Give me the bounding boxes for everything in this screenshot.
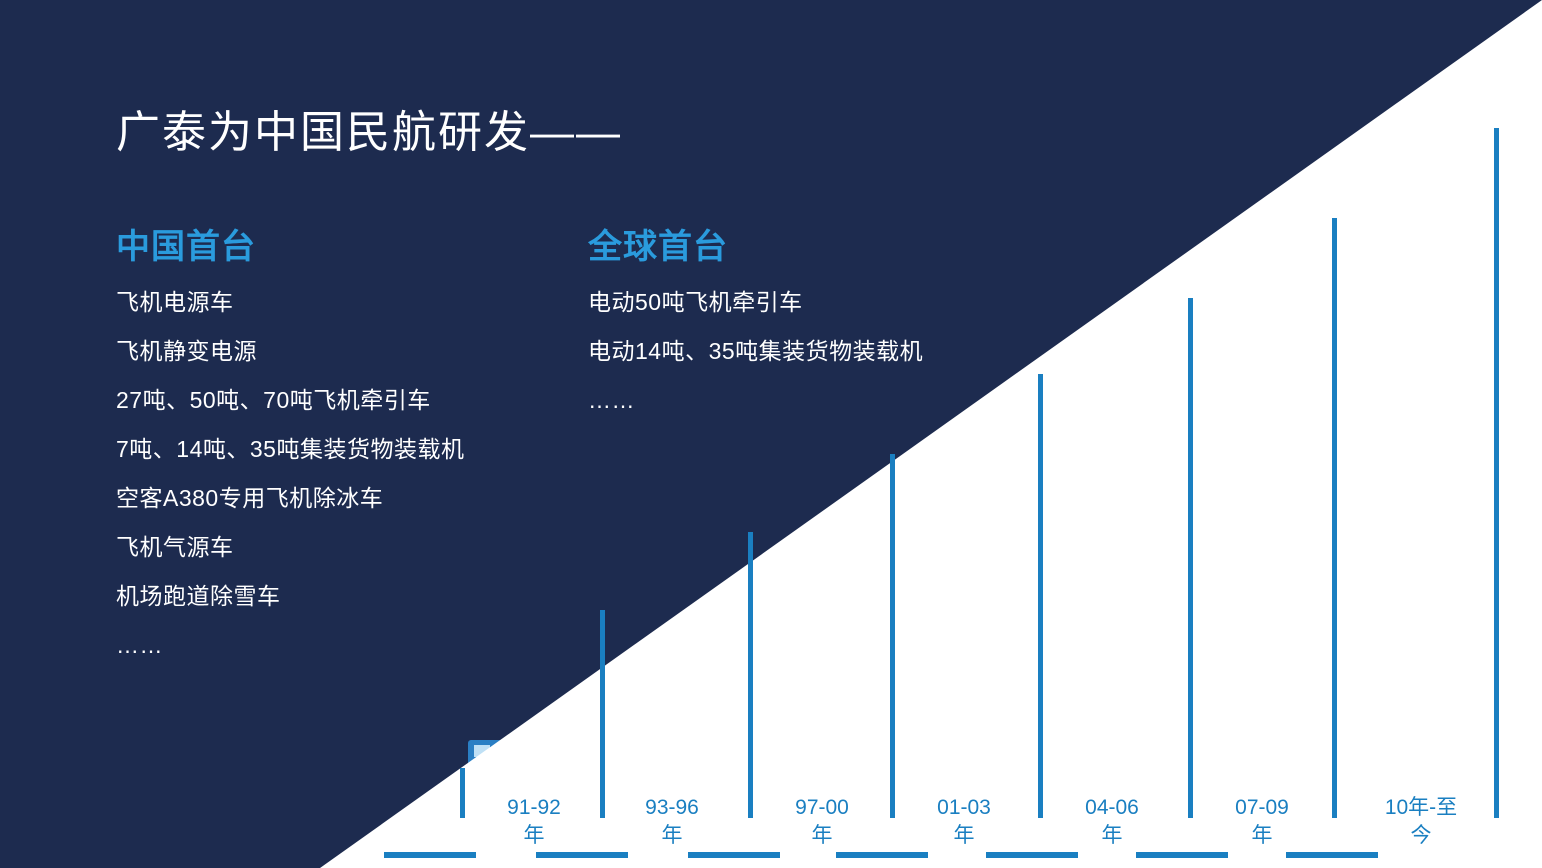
list-item: 飞机静变电源 [116, 327, 464, 376]
timeline-vline [1494, 128, 1499, 818]
page-title: 广泰为中国民航研发—— [116, 96, 622, 160]
timeline-vline [748, 532, 753, 818]
timeline-tick-label: 07-09 年 [1202, 794, 1322, 850]
tick-unit: 年 [1052, 822, 1172, 850]
timeline-hbar [1136, 852, 1228, 858]
timeline-hbar [688, 852, 780, 858]
timeline-tick-label: 93-96 年 [612, 794, 732, 850]
list-item: 空客A380专用飞机除冰车 [116, 474, 464, 523]
tick-range: 93-96 [612, 794, 732, 822]
column-heading-china-first: 中国首台 [116, 219, 256, 268]
tick-range: 07-09 [1202, 794, 1322, 822]
tick-unit: 今 [1346, 822, 1496, 850]
list-item: 飞机电源车 [116, 278, 464, 327]
tick-unit: 年 [904, 822, 1024, 850]
timeline-tick-label: 91-92 年 [474, 794, 594, 850]
timeline-vline [1332, 218, 1337, 818]
global-first-list: 电动50吨飞机牵引车 电动14吨、35吨集装货物装载机 …… [588, 278, 923, 425]
timeline-vline [600, 610, 605, 818]
tick-range: 01-03 [904, 794, 1024, 822]
timeline-hbar [836, 852, 928, 858]
slide-root: 广泰为中国民航研发—— 中国首台 飞机电源车 飞机静变电源 27吨、50吨、70… [0, 0, 1542, 868]
timeline-tick-label: 01-03 年 [904, 794, 1024, 850]
timeline-tick-label: 04-06 年 [1052, 794, 1172, 850]
timeline-hbar [986, 852, 1078, 858]
list-item: 7吨、14吨、35吨集装货物装载机 [116, 425, 464, 474]
list-item: …… [588, 376, 923, 425]
list-item: 飞机气源车 [116, 523, 464, 572]
list-item: 电动14吨、35吨集装货物装载机 [588, 327, 923, 376]
tick-unit: 年 [1202, 822, 1322, 850]
tick-range: 04-06 [1052, 794, 1172, 822]
tick-range: 10年-至 [1346, 794, 1496, 822]
timeline-tick-label: 97-00 年 [762, 794, 882, 850]
column-heading-global-first: 全球首台 [588, 219, 728, 268]
china-first-list: 飞机电源车 飞机静变电源 27吨、50吨、70吨飞机牵引车 7吨、14吨、35吨… [116, 278, 464, 670]
list-item: 27吨、50吨、70吨飞机牵引车 [116, 376, 464, 425]
timeline-tick-label: 10年-至 今 [1346, 794, 1496, 850]
tick-unit: 年 [762, 822, 882, 850]
timeline-vline [1188, 298, 1193, 818]
tick-unit: 年 [474, 822, 594, 850]
timeline-vline [890, 454, 895, 818]
timeline-hbar [1286, 852, 1378, 858]
list-item: 电动50吨飞机牵引车 [588, 278, 923, 327]
tick-range: 97-00 [762, 794, 882, 822]
list-item: 机场跑道除雪车 [116, 572, 464, 621]
tick-unit: 年 [612, 822, 732, 850]
timeline-hbar [384, 852, 476, 858]
tick-range: 91-92 [474, 794, 594, 822]
list-item: …… [116, 621, 464, 670]
timeline-vline [1038, 374, 1043, 818]
timeline-vline [460, 768, 465, 818]
timeline-hbar [536, 852, 628, 858]
